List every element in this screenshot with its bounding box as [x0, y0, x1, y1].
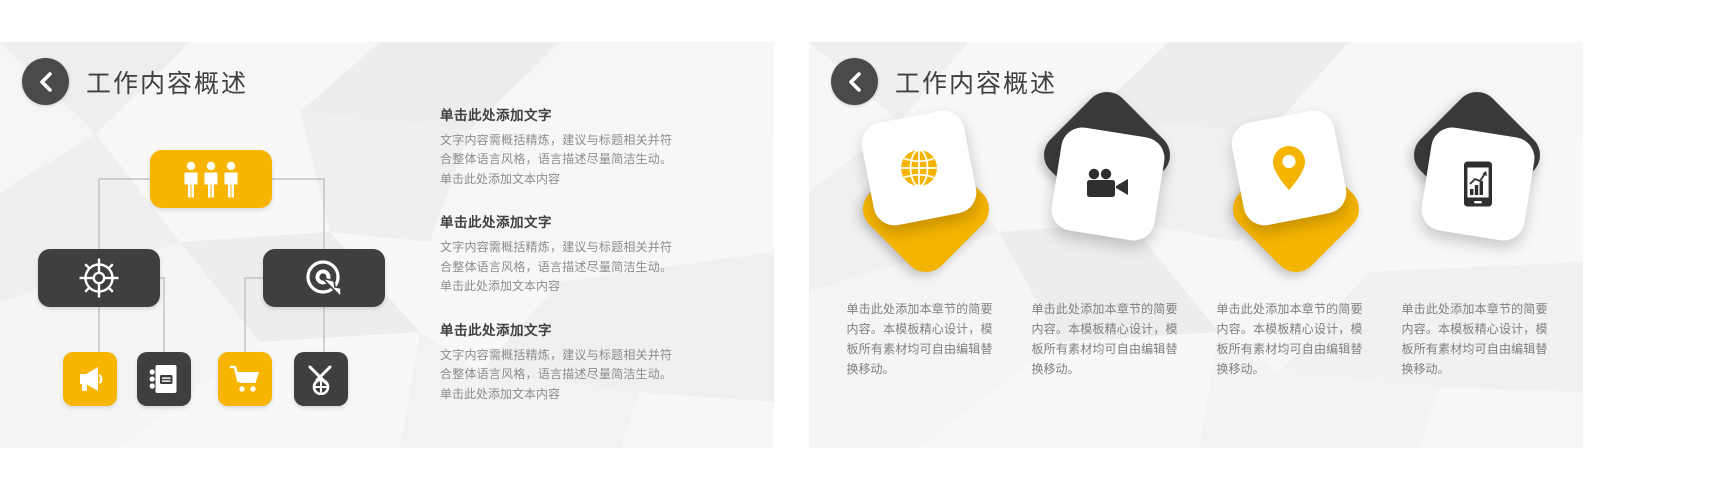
icon-card-art [1012, 98, 1197, 283]
icon-card-caption: 单击此处添加本章节的简要内容。本模板精心设计，模板所有素材均可自由编辑替换移动。 [1217, 299, 1363, 380]
page-title: 工作内容概述 [86, 64, 248, 100]
whisk-icon [306, 363, 336, 395]
slide-org-chart: 工作内容概述 [0, 42, 774, 448]
icon-card-art [1197, 98, 1382, 283]
org-node-top[interactable] [150, 150, 272, 208]
text-block: 单击此处添加文字 文字内容需概括精炼，建议与标题相关并符合整体语言风格，语言描述… [440, 104, 740, 189]
megaphone-icon [74, 363, 106, 395]
org-node-bottom-1[interactable] [63, 352, 117, 406]
icon-card-art [827, 98, 1012, 283]
icon-tile [1228, 107, 1350, 229]
icon-tile [1419, 125, 1538, 244]
icon-card-caption: 单击此处添加本章节的简要内容。本模板精心设计，模板所有素材均可自由编辑替换移动。 [1032, 299, 1178, 380]
three-people-icon [180, 160, 242, 198]
location-pin-icon [1271, 144, 1307, 192]
text-block-heading: 单击此处添加文字 [440, 211, 740, 231]
text-block-body: 文字内容需概括精炼，建议与标题相关并符合整体语言风格，语言描述尽量简洁生动。单击… [440, 346, 672, 404]
text-block: 单击此处添加文字 文字内容需概括精炼，建议与标题相关并符合整体语言风格，语言描述… [440, 319, 740, 404]
text-block-heading: 单击此处添加文字 [440, 319, 740, 339]
org-node-mid-right[interactable] [263, 249, 385, 307]
icon-card[interactable]: 单击此处添加本章节的简要内容。本模板精心设计，模板所有素材均可自由编辑替换移动。 [827, 98, 1012, 428]
ship-wheel-icon [77, 256, 121, 300]
org-node-bottom-2[interactable] [137, 352, 191, 406]
icon-card-caption: 单击此处添加本章节的简要内容。本模板精心设计，模板所有素材均可自由编辑替换移动。 [1402, 299, 1548, 380]
address-book-icon [149, 363, 179, 395]
slide-pair-stage: 工作内容概述 [0, 0, 1720, 490]
chevron-left-icon [38, 71, 54, 93]
video-camera-icon [1084, 166, 1132, 202]
icon-card[interactable]: 单击此处添加本章节的简要内容。本模板精心设计，模板所有素材均可自由编辑替换移动。 [1382, 98, 1567, 428]
icon-card[interactable]: 单击此处添加本章节的简要内容。本模板精心设计，模板所有素材均可自由编辑替换移动。 [1012, 98, 1197, 428]
icon-card-caption: 单击此处添加本章节的简要内容。本模板精心设计，模板所有素材均可自由编辑替换移动。 [847, 299, 993, 380]
org-chart [18, 104, 418, 434]
page-title: 工作内容概述 [895, 64, 1057, 100]
text-block-heading: 单击此处添加文字 [440, 104, 740, 124]
icon-card-row: 单击此处添加本章节的简要内容。本模板精心设计，模板所有素材均可自由编辑替换移动。 [827, 98, 1567, 428]
org-node-mid-left[interactable] [38, 249, 160, 307]
slide-header: 工作内容概述 [22, 58, 248, 105]
chevron-left-icon [847, 71, 863, 93]
back-button[interactable] [831, 58, 878, 105]
org-node-bottom-4[interactable] [294, 352, 348, 406]
target-arrow-icon [302, 256, 346, 300]
back-button[interactable] [22, 58, 69, 105]
shopping-cart-icon [229, 364, 261, 394]
icon-tile [1049, 125, 1168, 244]
slide-icon-cards: 工作内容概述 [809, 42, 1583, 448]
text-block-body: 文字内容需概括精炼，建议与标题相关并符合整体语言风格，语言描述尽量简洁生动。单击… [440, 131, 672, 189]
slide-header: 工作内容概述 [831, 58, 1057, 105]
text-column: 单击此处添加文字 文字内容需概括精炼，建议与标题相关并符合整体语言风格，语言描述… [440, 104, 740, 404]
globe-icon [896, 145, 942, 191]
icon-card-art [1382, 98, 1567, 283]
icon-tile [858, 107, 980, 229]
icon-card[interactable]: 单击此处添加本章节的简要内容。本模板精心设计，模板所有素材均可自由编辑替换移动。 [1197, 98, 1382, 428]
mobile-chart-icon [1461, 160, 1495, 208]
org-node-bottom-3[interactable] [218, 352, 272, 406]
text-block-body: 文字内容需概括精炼，建议与标题相关并符合整体语言风格，语言描述尽量简洁生动。单击… [440, 238, 672, 296]
slide-divider [774, 0, 788, 490]
text-block: 单击此处添加文字 文字内容需概括精炼，建议与标题相关并符合整体语言风格，语言描述… [440, 211, 740, 296]
